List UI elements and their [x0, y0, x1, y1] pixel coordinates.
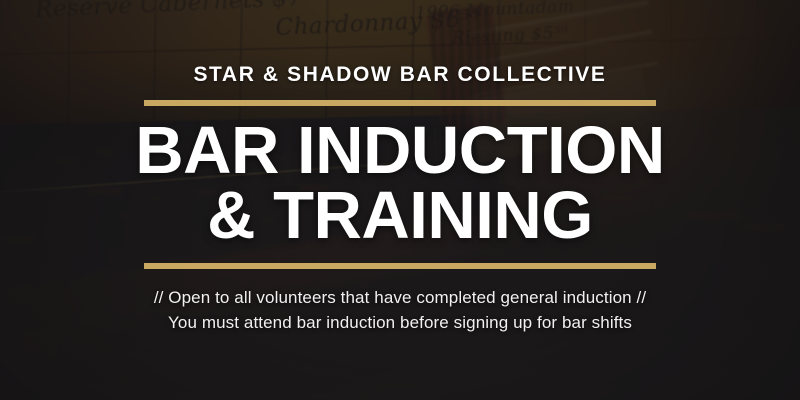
page-title-line-2: & TRAINING [135, 184, 664, 248]
subtitle-line-2: You must attend bar induction before sig… [154, 310, 646, 336]
poster-subtitle: // Open to all volunteers that have comp… [154, 285, 646, 336]
poster-banner: Reserve Cabernets $7⁵⁰ Chardonnay $6⁵⁰ 1… [0, 0, 800, 400]
organisation-name: STAR & SHADOW BAR COLLECTIVE [193, 64, 606, 85]
poster-content: STAR & SHADOW BAR COLLECTIVE BAR INDUCTI… [0, 0, 800, 400]
subtitle-line-1: // Open to all volunteers that have comp… [154, 285, 646, 311]
divider-top [144, 100, 656, 106]
page-title: BAR INDUCTION & TRAINING [135, 119, 664, 248]
page-title-line-1: BAR INDUCTION [135, 119, 664, 183]
divider-bottom [144, 263, 656, 269]
